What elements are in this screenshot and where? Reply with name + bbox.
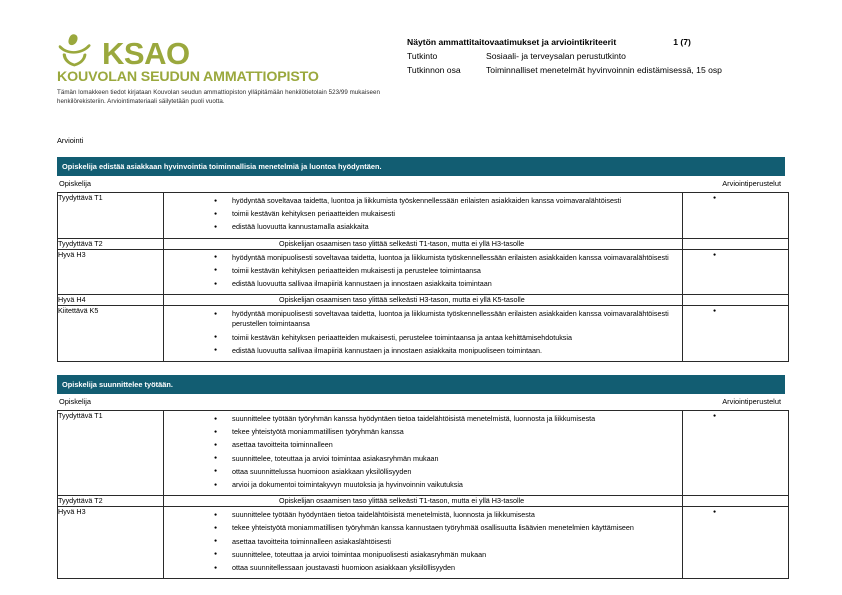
criteria-row: Hyvä H3suunnittelee työtään hyödyntäen t… bbox=[58, 507, 789, 579]
grade-level-cell: Hyvä H3 bbox=[58, 507, 164, 579]
criteria-grid: Tyydyttävä T1suunnittelee työtään työryh… bbox=[57, 410, 789, 579]
grade-level-cell: Hyvä H3 bbox=[58, 249, 164, 295]
grade-level-cell: Kiitettävä K5 bbox=[58, 306, 164, 362]
criteria-note-row: Hyvä H4Opiskelijan osaamisen taso ylittä… bbox=[58, 295, 789, 306]
document-title: Näytön ammattitaitovaatimukset ja arvioi… bbox=[407, 35, 616, 49]
organization-logo-block: KSAO KOUVOLAN SEUDUN AMMATTIOPISTO Tämän… bbox=[57, 33, 397, 106]
level-note-cell: Opiskelijan osaamisen taso ylittää selke… bbox=[164, 238, 683, 249]
page-number: 1 (7) bbox=[673, 35, 691, 49]
logo-wordmark: KSAO bbox=[102, 38, 190, 69]
level-note-cell: Opiskelijan osaamisen taso ylittää selke… bbox=[164, 295, 683, 306]
justification-cell[interactable] bbox=[683, 295, 789, 306]
meta-field-tutkinto: Tutkinto Sosiaali- ja terveysalan perust… bbox=[407, 49, 722, 63]
justification-cell[interactable] bbox=[683, 496, 789, 507]
table-band-title: Opiskelija edistää asiakkaan hyvinvointi… bbox=[57, 157, 785, 176]
justification-cell[interactable]: ● bbox=[683, 193, 789, 239]
criteria-bullets-cell: hyödyntää monipuolisesti soveltavaa taid… bbox=[164, 306, 683, 362]
criteria-list-item: suunnittelee, toteuttaa ja arvioi toimin… bbox=[164, 550, 676, 560]
meta-value-tutkinnon-osa: Toiminnalliset menetelmät hyvinvoinnin e… bbox=[486, 63, 722, 77]
level-note-text: Opiskelijan osaamisen taso ylittää selke… bbox=[164, 239, 682, 249]
criteria-row: Kiitettävä K5hyödyntää monipuolisesti so… bbox=[58, 306, 789, 362]
criteria-row: Hyvä H3hyödyntää monipuolisesti soveltav… bbox=[58, 249, 789, 295]
criteria-list-item: suunnittelee työtään työryhmän kanssa hy… bbox=[164, 414, 676, 424]
column-header-right: Arviointiperustelut bbox=[722, 179, 781, 188]
criteria-list-item: asettaa tavoitteita toiminnalleen bbox=[164, 440, 676, 450]
grade-level-cell: Tyydyttävä T1 bbox=[58, 193, 164, 239]
meta-label-tutkinnon-osa: Tutkinnon osa bbox=[407, 63, 486, 77]
justification-cell[interactable]: ● bbox=[683, 507, 789, 579]
criteria-list-item: ottaa suunnitellessaan joustavasti huomi… bbox=[164, 563, 676, 573]
document-page: KSAO KOUVOLAN SEUDUN AMMATTIOPISTO Tämän… bbox=[0, 0, 842, 595]
document-meta: Näytön ammattitaitovaatimukset ja arvioi… bbox=[407, 35, 722, 78]
criteria-list-item: arvioi ja dokumentoi toimintakyvyn muuto… bbox=[164, 480, 676, 490]
justification-bullet: ● bbox=[713, 194, 788, 202]
criteria-list-item: tekee yhteistyötä moniammatillisen työry… bbox=[164, 523, 676, 533]
criteria-list-item: hyödyntää monipuolisesti soveltavaa taid… bbox=[164, 253, 676, 263]
criteria-list-item: tekee yhteistyötä moniammatillisen työry… bbox=[164, 427, 676, 437]
criteria-list-item: toimii kestävän kehityksen periaatteiden… bbox=[164, 209, 676, 219]
justification-bullet: ● bbox=[713, 307, 788, 315]
criteria-list-item: suunnittelee työtään hyödyntäen tietoa t… bbox=[164, 510, 676, 520]
criteria-list-item: suunnittelee, toteuttaa ja arvioi toimin… bbox=[164, 454, 676, 464]
criteria-grid-body: Tyydyttävä T1suunnittelee työtään työryh… bbox=[58, 411, 789, 579]
criteria-bullets-cell: suunnittelee työtään työryhmän kanssa hy… bbox=[164, 411, 683, 496]
justification-cell[interactable]: ● bbox=[683, 306, 789, 362]
level-note-cell: Opiskelijan osaamisen taso ylittää selke… bbox=[164, 496, 683, 507]
criteria-list: hyödyntää monipuolisesti soveltavaa taid… bbox=[164, 250, 682, 295]
grade-level-cell: Hyvä H4 bbox=[58, 295, 164, 306]
logo-subtitle: KOUVOLAN SEUDUN AMMATTIOPISTO bbox=[57, 70, 397, 85]
criteria-bullets-cell: suunnittelee työtään hyödyntäen tietoa t… bbox=[164, 507, 683, 579]
criteria-grid: Tyydyttävä T1hyödyntää soveltavaa taidet… bbox=[57, 192, 789, 362]
assessment-table-1: Opiskelija edistää asiakkaan hyvinvointi… bbox=[57, 157, 785, 362]
grade-level-cell: Tyydyttävä T2 bbox=[58, 496, 164, 507]
criteria-list-item: edistää luovuutta sallivaa ilmapiiriä ka… bbox=[164, 279, 676, 289]
privacy-fine-print: Tämän lomakkeen tiedot kirjataan Kouvola… bbox=[57, 88, 393, 106]
criteria-list: hyödyntää soveltavaa taidetta, luontoa j… bbox=[164, 193, 682, 238]
meta-field-tutkinnon-osa: Tutkinnon osa Toiminnalliset menetelmät … bbox=[407, 63, 722, 77]
justification-bullet: ● bbox=[713, 412, 788, 420]
column-header-left: Opiskelija bbox=[59, 397, 91, 406]
criteria-list-item: hyödyntää monipuolisesti soveltavaa taid… bbox=[164, 309, 676, 329]
justification-bullet: ● bbox=[713, 251, 788, 259]
criteria-bullets-cell: hyödyntää soveltavaa taidetta, luontoa j… bbox=[164, 193, 683, 239]
meta-value-tutkinto: Sosiaali- ja terveysalan perustutkinto bbox=[486, 49, 626, 63]
grade-level-cell: Tyydyttävä T2 bbox=[58, 238, 164, 249]
criteria-row: Tyydyttävä T1suunnittelee työtään työryh… bbox=[58, 411, 789, 496]
level-note-text: Opiskelijan osaamisen taso ylittää selke… bbox=[164, 295, 682, 305]
table-column-headers: Opiskelija Arviointiperustelut bbox=[57, 176, 785, 192]
column-header-right: Arviointiperustelut bbox=[722, 397, 781, 406]
justification-bullet: ● bbox=[713, 508, 788, 516]
criteria-list-item: edistää luovuutta kannustamalla asiakkai… bbox=[164, 222, 676, 232]
level-note-text: Opiskelijan osaamisen taso ylittää selke… bbox=[164, 496, 682, 506]
criteria-list-item: toimii kestävän kehityksen periaatteiden… bbox=[164, 333, 676, 343]
ksao-figure-logo-icon bbox=[57, 33, 99, 69]
criteria-bullets-cell: hyödyntää monipuolisesti soveltavaa taid… bbox=[164, 249, 683, 295]
criteria-list: suunnittelee työtään hyödyntäen tietoa t… bbox=[164, 507, 682, 578]
criteria-list-item: hyödyntää soveltavaa taidetta, luontoa j… bbox=[164, 196, 676, 206]
criteria-note-row: Tyydyttävä T2Opiskelijan osaamisen taso … bbox=[58, 238, 789, 249]
table-band-title: Opiskelija suunnittelee työtään. bbox=[57, 375, 785, 394]
table-column-headers: Opiskelija Arviointiperustelut bbox=[57, 394, 785, 410]
meta-label-tutkinto: Tutkinto bbox=[407, 49, 486, 63]
criteria-list-item: toimii kestävän kehityksen periaatteiden… bbox=[164, 266, 676, 276]
criteria-note-row: Tyydyttävä T2Opiskelijan osaamisen taso … bbox=[58, 496, 789, 507]
justification-cell[interactable]: ● bbox=[683, 411, 789, 496]
criteria-row: Tyydyttävä T1hyödyntää soveltavaa taidet… bbox=[58, 193, 789, 239]
grade-level-cell: Tyydyttävä T1 bbox=[58, 411, 164, 496]
criteria-list-item: edistää luovuutta sallivaa ilmapiiriä ka… bbox=[164, 346, 676, 356]
document-header: KSAO KOUVOLAN SEUDUN AMMATTIOPISTO Tämän… bbox=[0, 0, 842, 118]
justification-cell[interactable]: ● bbox=[683, 249, 789, 295]
criteria-list-item: ottaa suunnittelussa huomioon asiakkaan … bbox=[164, 467, 676, 477]
criteria-list: suunnittelee työtään työryhmän kanssa hy… bbox=[164, 411, 682, 495]
assessment-table-2: Opiskelija suunnittelee työtään. Opiskel… bbox=[57, 375, 785, 579]
column-header-left: Opiskelija bbox=[59, 179, 91, 188]
section-label-arviointi: Arviointi bbox=[57, 136, 83, 145]
criteria-list: hyödyntää monipuolisesti soveltavaa taid… bbox=[164, 306, 682, 361]
justification-cell[interactable] bbox=[683, 238, 789, 249]
criteria-list-item: asettaa tavoitteita toiminnalleen asiaka… bbox=[164, 537, 676, 547]
criteria-grid-body: Tyydyttävä T1hyödyntää soveltavaa taidet… bbox=[58, 193, 789, 362]
